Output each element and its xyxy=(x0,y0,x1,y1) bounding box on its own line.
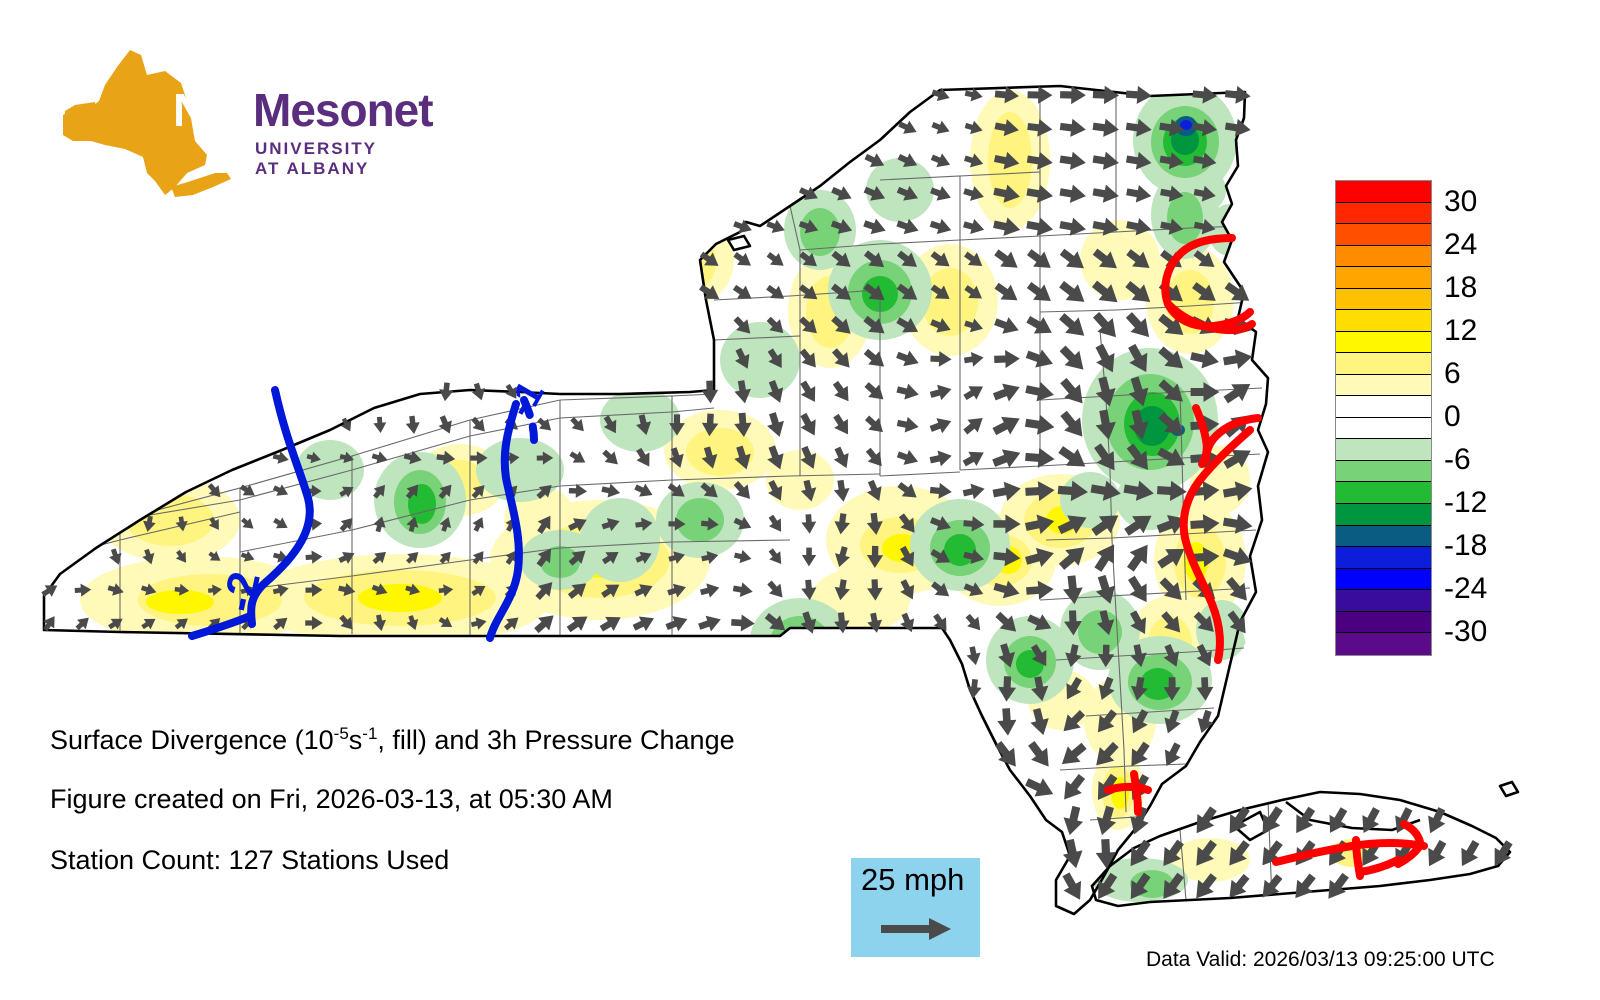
colorbar-band-19 xyxy=(1336,590,1431,612)
colorbar-band-8 xyxy=(1336,353,1431,375)
colorbar-band-4 xyxy=(1336,267,1431,289)
colorbar-band-18 xyxy=(1336,569,1431,591)
colorbar-label-6: 6 xyxy=(1444,359,1461,389)
data-valid-timestamp: Data Valid: 2026/03/13 09:25:00 UTC xyxy=(1146,948,1495,972)
station-count-text: Station Count: 127 Stations Used xyxy=(50,845,449,876)
title-sup-1: -5 xyxy=(334,724,349,743)
colorbar-label--6: -6 xyxy=(1444,445,1471,475)
title-post: , fill) and 3h Pressure Change xyxy=(377,725,734,755)
colorbar-label-0: 0 xyxy=(1444,402,1461,432)
colorbar-band-7 xyxy=(1336,332,1431,354)
colorbar-band-2 xyxy=(1336,224,1431,246)
wind-speed-legend: 25 mph xyxy=(851,858,980,957)
colorbar-band-20 xyxy=(1336,612,1431,634)
colorbar-band-14 xyxy=(1336,482,1431,504)
colorbar-tick-labels: 3024181260-6-12-18-24-30 xyxy=(1444,180,1564,654)
colorbar-band-3 xyxy=(1336,246,1431,268)
colorbar-band-15 xyxy=(1336,504,1431,526)
wind-speed-legend-label: 25 mph xyxy=(861,862,964,898)
colorbar-label-12: 12 xyxy=(1444,316,1477,346)
colorbar-band-10 xyxy=(1336,396,1431,418)
wind-arrow-icon xyxy=(881,916,953,942)
colorbar-band-12 xyxy=(1336,439,1431,461)
colorbar-label-18: 18 xyxy=(1444,273,1477,303)
colorbar-label-24: 24 xyxy=(1444,230,1477,260)
colorbar-band-16 xyxy=(1336,526,1431,548)
colorbar-band-9 xyxy=(1336,375,1431,397)
title-sup-2: -1 xyxy=(362,724,377,743)
colorbar-band-13 xyxy=(1336,461,1431,483)
colorbar-label-30: 30 xyxy=(1444,187,1477,217)
colorbar-label--30: -30 xyxy=(1444,617,1487,647)
title-pre: Surface Divergence (10 xyxy=(50,725,334,755)
figure-created-text: Figure created on Fri, 2026-03-13, at 05… xyxy=(50,784,613,815)
colorbar-band-5 xyxy=(1336,289,1431,311)
colorbar-band-17 xyxy=(1336,547,1431,569)
colorbar-label--24: -24 xyxy=(1444,574,1487,604)
weather-map-figure: NYS Mesonet UNIVERSITY AT ALBANY xyxy=(0,0,1600,1000)
colorbar-band-21 xyxy=(1336,633,1431,655)
title-mid: s xyxy=(349,725,363,755)
colorbar-band-1 xyxy=(1336,203,1431,225)
colorbar-band-6 xyxy=(1336,310,1431,332)
figure-title: Surface Divergence (10-5s-1, fill) and 3… xyxy=(50,724,735,756)
colorbar-label--12: -12 xyxy=(1444,488,1487,518)
colorbar-label--18: -18 xyxy=(1444,531,1487,561)
colorbar-band-0 xyxy=(1336,181,1431,203)
colorbar-band-11 xyxy=(1336,418,1431,440)
colorbar xyxy=(1335,180,1432,656)
